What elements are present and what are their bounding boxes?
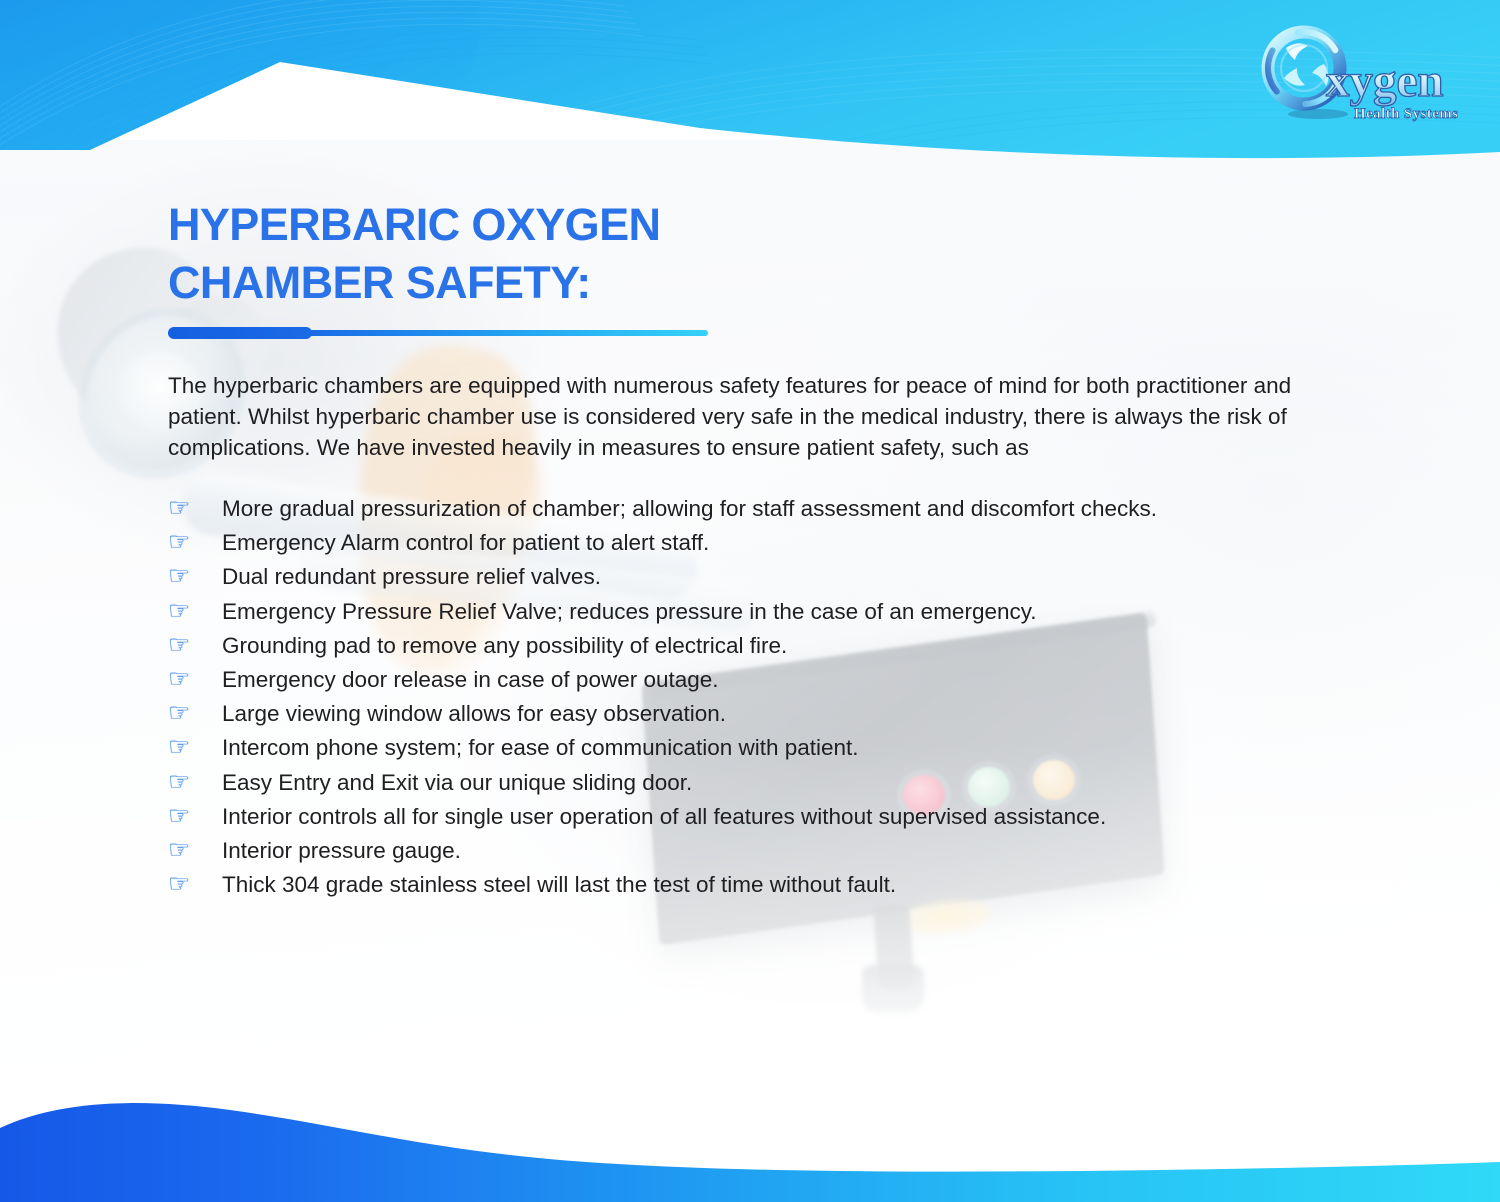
pointing-hand-right-icon: ☞ xyxy=(168,696,222,730)
divider-thick-segment xyxy=(168,327,312,339)
list-item-label: Emergency Pressure Relief Valve; reduces… xyxy=(222,595,1037,629)
list-item-label: Intercom phone system; for ease of commu… xyxy=(222,731,859,765)
list-item-label: Interior controls all for single user op… xyxy=(222,800,1106,834)
pointing-hand-right-icon: ☞ xyxy=(168,833,222,867)
safety-features-list: ☞ More gradual pressurization of chamber… xyxy=(168,491,1368,901)
logo-wordmark: xygen xyxy=(1326,55,1444,107)
list-item-label: Easy Entry and Exit via our unique slidi… xyxy=(222,766,692,800)
list-item-label: More gradual pressurization of chamber; … xyxy=(222,492,1157,526)
list-item: ☞ Dual redundant pressure relief valves. xyxy=(168,559,1368,593)
intro-paragraph: The hyperbaric chambers are equipped wit… xyxy=(168,370,1353,463)
list-item-label: Emergency Alarm control for patient to a… xyxy=(222,526,709,560)
list-item-label: Interior pressure gauge. xyxy=(222,834,461,868)
list-item: ☞ Thick 304 grade stainless steel will l… xyxy=(168,867,1368,901)
list-item: ☞ Emergency Alarm control for patient to… xyxy=(168,525,1368,559)
pointing-hand-right-icon: ☞ xyxy=(168,765,222,799)
title-divider xyxy=(168,326,708,340)
logo-tagline: Health Systems xyxy=(1354,106,1458,122)
pointing-hand-right-icon: ☞ xyxy=(168,525,222,559)
list-item: ☞ Interior pressure gauge. xyxy=(168,833,1368,867)
pointing-hand-right-icon: ☞ xyxy=(168,559,222,593)
pointing-hand-right-icon: ☞ xyxy=(168,730,222,764)
logo[interactable]: xygen Health Systems xyxy=(1254,22,1460,130)
pointing-hand-right-icon: ☞ xyxy=(168,799,222,833)
list-item: ☞ More gradual pressurization of chamber… xyxy=(168,491,1368,525)
list-item-label: Thick 304 grade stainless steel will las… xyxy=(222,868,896,902)
divider-thin-segment xyxy=(306,330,708,336)
list-item: ☞ Grounding pad to remove any possibilit… xyxy=(168,628,1368,662)
list-item: ☞ Emergency Pressure Relief Valve; reduc… xyxy=(168,594,1368,628)
page-title: HYPERBARIC OXYGEN CHAMBER SAFETY: xyxy=(168,196,1368,312)
pointing-hand-right-icon: ☞ xyxy=(168,662,222,696)
list-item: ☞ Emergency door release in case of powe… xyxy=(168,662,1368,696)
pointing-hand-right-icon: ☞ xyxy=(168,867,222,901)
pointing-hand-right-icon: ☞ xyxy=(168,628,222,662)
list-item: ☞ Large viewing window allows for easy o… xyxy=(168,696,1368,730)
list-item-label: Emergency door release in case of power … xyxy=(222,663,719,697)
main-content: HYPERBARIC OXYGEN CHAMBER SAFETY: The hy… xyxy=(168,196,1368,901)
slide-canvas: xygen Health Systems HYPERBARIC OXYGEN C… xyxy=(0,0,1500,1202)
background-yellow-handle xyxy=(898,895,993,938)
background-panel-stem xyxy=(873,904,915,990)
list-item: ☞ Easy Entry and Exit via our unique sli… xyxy=(168,765,1368,799)
list-item-label: Grounding pad to remove any possibility … xyxy=(222,629,787,663)
list-item: ☞ Intercom phone system; for ease of com… xyxy=(168,730,1368,764)
pointing-hand-right-icon: ☞ xyxy=(168,491,222,525)
footer-wave xyxy=(0,1072,1500,1202)
list-item: ☞ Interior controls all for single user … xyxy=(168,799,1368,833)
background-panel-base xyxy=(862,965,924,1013)
pointing-hand-right-icon: ☞ xyxy=(168,594,222,628)
list-item-label: Large viewing window allows for easy obs… xyxy=(222,697,726,731)
list-item-label: Dual redundant pressure relief valves. xyxy=(222,560,601,594)
